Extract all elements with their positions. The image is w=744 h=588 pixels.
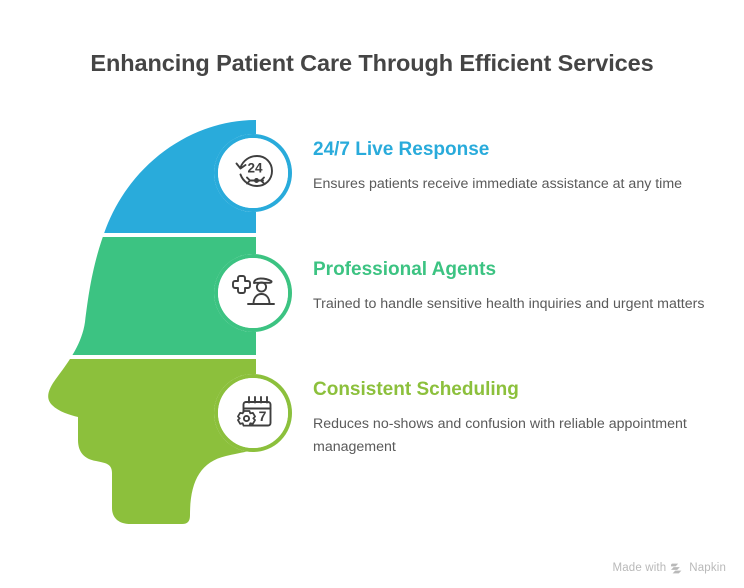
feature-body-3: Reduces no-shows and confusion with reli… [313, 413, 705, 459]
svg-text:24: 24 [247, 161, 263, 176]
icon-badge-nurse [214, 254, 292, 332]
badge-inner: 24 [218, 138, 288, 208]
napkin-watermark: Made with Napkin [613, 562, 726, 574]
badge-inner: 7 [218, 378, 288, 448]
icon-badge-24-7: 24 [214, 134, 292, 212]
feature-heading-1: 24/7 Live Response [313, 138, 705, 162]
clock-24-7-icon: 24 [230, 150, 276, 196]
svg-text:7: 7 [259, 408, 267, 424]
feature-item-1: 24/7 Live Response Ensures patients rece… [313, 138, 705, 196]
icon-badge-calendar: 7 [214, 374, 292, 452]
calendar-gear-icon: 7 [230, 390, 276, 436]
watermark-brand: Napkin [689, 562, 726, 574]
watermark-prefix: Made with [613, 562, 667, 574]
feature-heading-3: Consistent Scheduling [313, 378, 705, 402]
feature-item-3: Consistent Scheduling Reduces no-shows a… [313, 378, 705, 459]
infographic-poster: Enhancing Patient Care Through Efficient… [0, 0, 744, 588]
feature-body-1: Ensures patients receive immediate assis… [313, 173, 705, 196]
feature-heading-2: Professional Agents [313, 258, 705, 282]
medical-cross-nurse-icon [230, 270, 276, 316]
badge-inner [218, 258, 288, 328]
napkin-chevrons-icon [671, 563, 684, 574]
feature-item-2: Professional Agents Trained to handle se… [313, 258, 705, 316]
page-title: Enhancing Patient Care Through Efficient… [0, 50, 744, 77]
feature-body-2: Trained to handle sensitive health inqui… [313, 293, 705, 316]
